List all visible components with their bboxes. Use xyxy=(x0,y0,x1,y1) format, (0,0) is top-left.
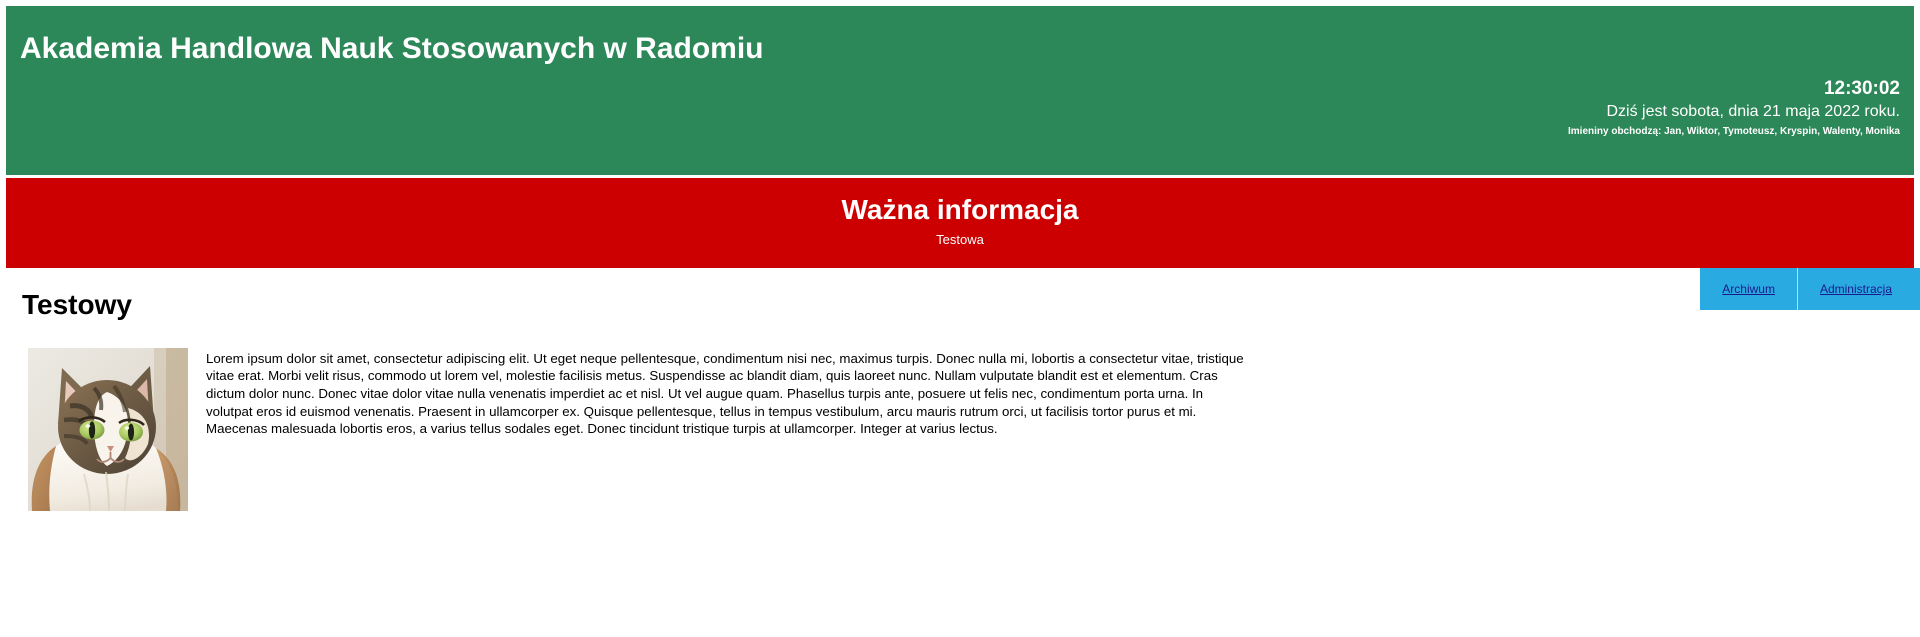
alert-title: Ważna informacja xyxy=(6,193,1914,227)
site-title: Akademia Handlowa Nauk Stosowanych w Rad… xyxy=(20,32,764,66)
site-header: Akademia Handlowa Nauk Stosowanych w Rad… xyxy=(6,6,1914,175)
archive-button[interactable]: Archiwum xyxy=(1700,268,1798,310)
alert-subtitle: Testowa xyxy=(6,232,1914,247)
cat-photo xyxy=(28,348,188,511)
administration-link[interactable]: Administracja xyxy=(1820,282,1892,296)
header-meta: 12:30:02 Dziś jest sobota, dnia 21 maja … xyxy=(1568,78,1900,138)
administration-button[interactable]: Administracja xyxy=(1798,268,1920,310)
nameday-display: Imieniny obchodzą: Jan, Wiktor, Tymoteus… xyxy=(1568,126,1900,138)
date-display: Dziś jest sobota, dnia 21 maja 2022 roku… xyxy=(1568,103,1900,121)
clock-display: 12:30:02 xyxy=(1568,78,1900,100)
page-root: Akademia Handlowa Nauk Stosowanych w Rad… xyxy=(0,0,1920,637)
article-text: Lorem ipsum dolor sit amet, consectetur … xyxy=(206,348,1251,438)
archive-link[interactable]: Archiwum xyxy=(1722,282,1775,296)
toolbar: Archiwum Administracja xyxy=(1700,268,1920,310)
page-title: Testowy xyxy=(6,268,1914,321)
content-area: Archiwum Administracja Testowy xyxy=(6,268,1914,511)
article-body: Lorem ipsum dolor sit amet, consectetur … xyxy=(6,321,1914,511)
important-info-banner: Ważna informacja Testowa xyxy=(6,178,1914,268)
